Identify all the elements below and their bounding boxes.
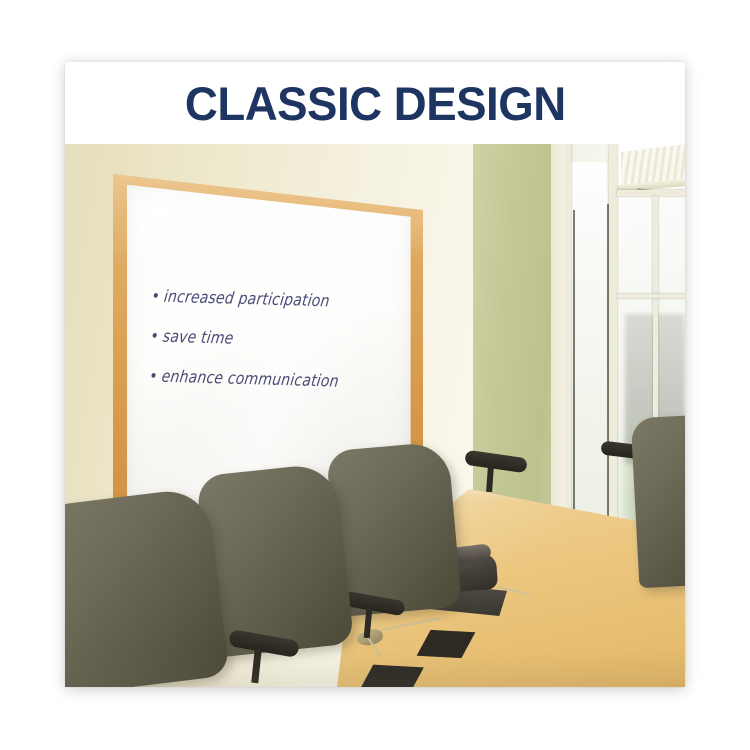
page-title: CLASSIC DESIGN (185, 80, 566, 127)
note-text: increased participation (163, 288, 331, 311)
window-mullion-horizontal (617, 294, 685, 298)
floor-shadow (65, 651, 685, 687)
note-item: •save time (149, 327, 393, 353)
bullet-icon: • (148, 367, 159, 386)
note-text: enhance communication (161, 368, 340, 392)
conference-room-photo: •increased participation •save time •enh… (65, 144, 685, 687)
note-text: save time (162, 328, 235, 349)
chair-backrest (631, 414, 685, 588)
product-image-card: CLASSIC DESIGN (65, 62, 685, 687)
note-item: •enhance communication (148, 367, 392, 393)
whiteboard-notes-list: •increased participation •save time •enh… (149, 289, 394, 416)
window-transom-rail (617, 190, 685, 196)
bullet-icon: • (149, 327, 160, 346)
headline-banner: CLASSIC DESIGN (65, 62, 685, 144)
bullet-icon: • (150, 287, 161, 306)
